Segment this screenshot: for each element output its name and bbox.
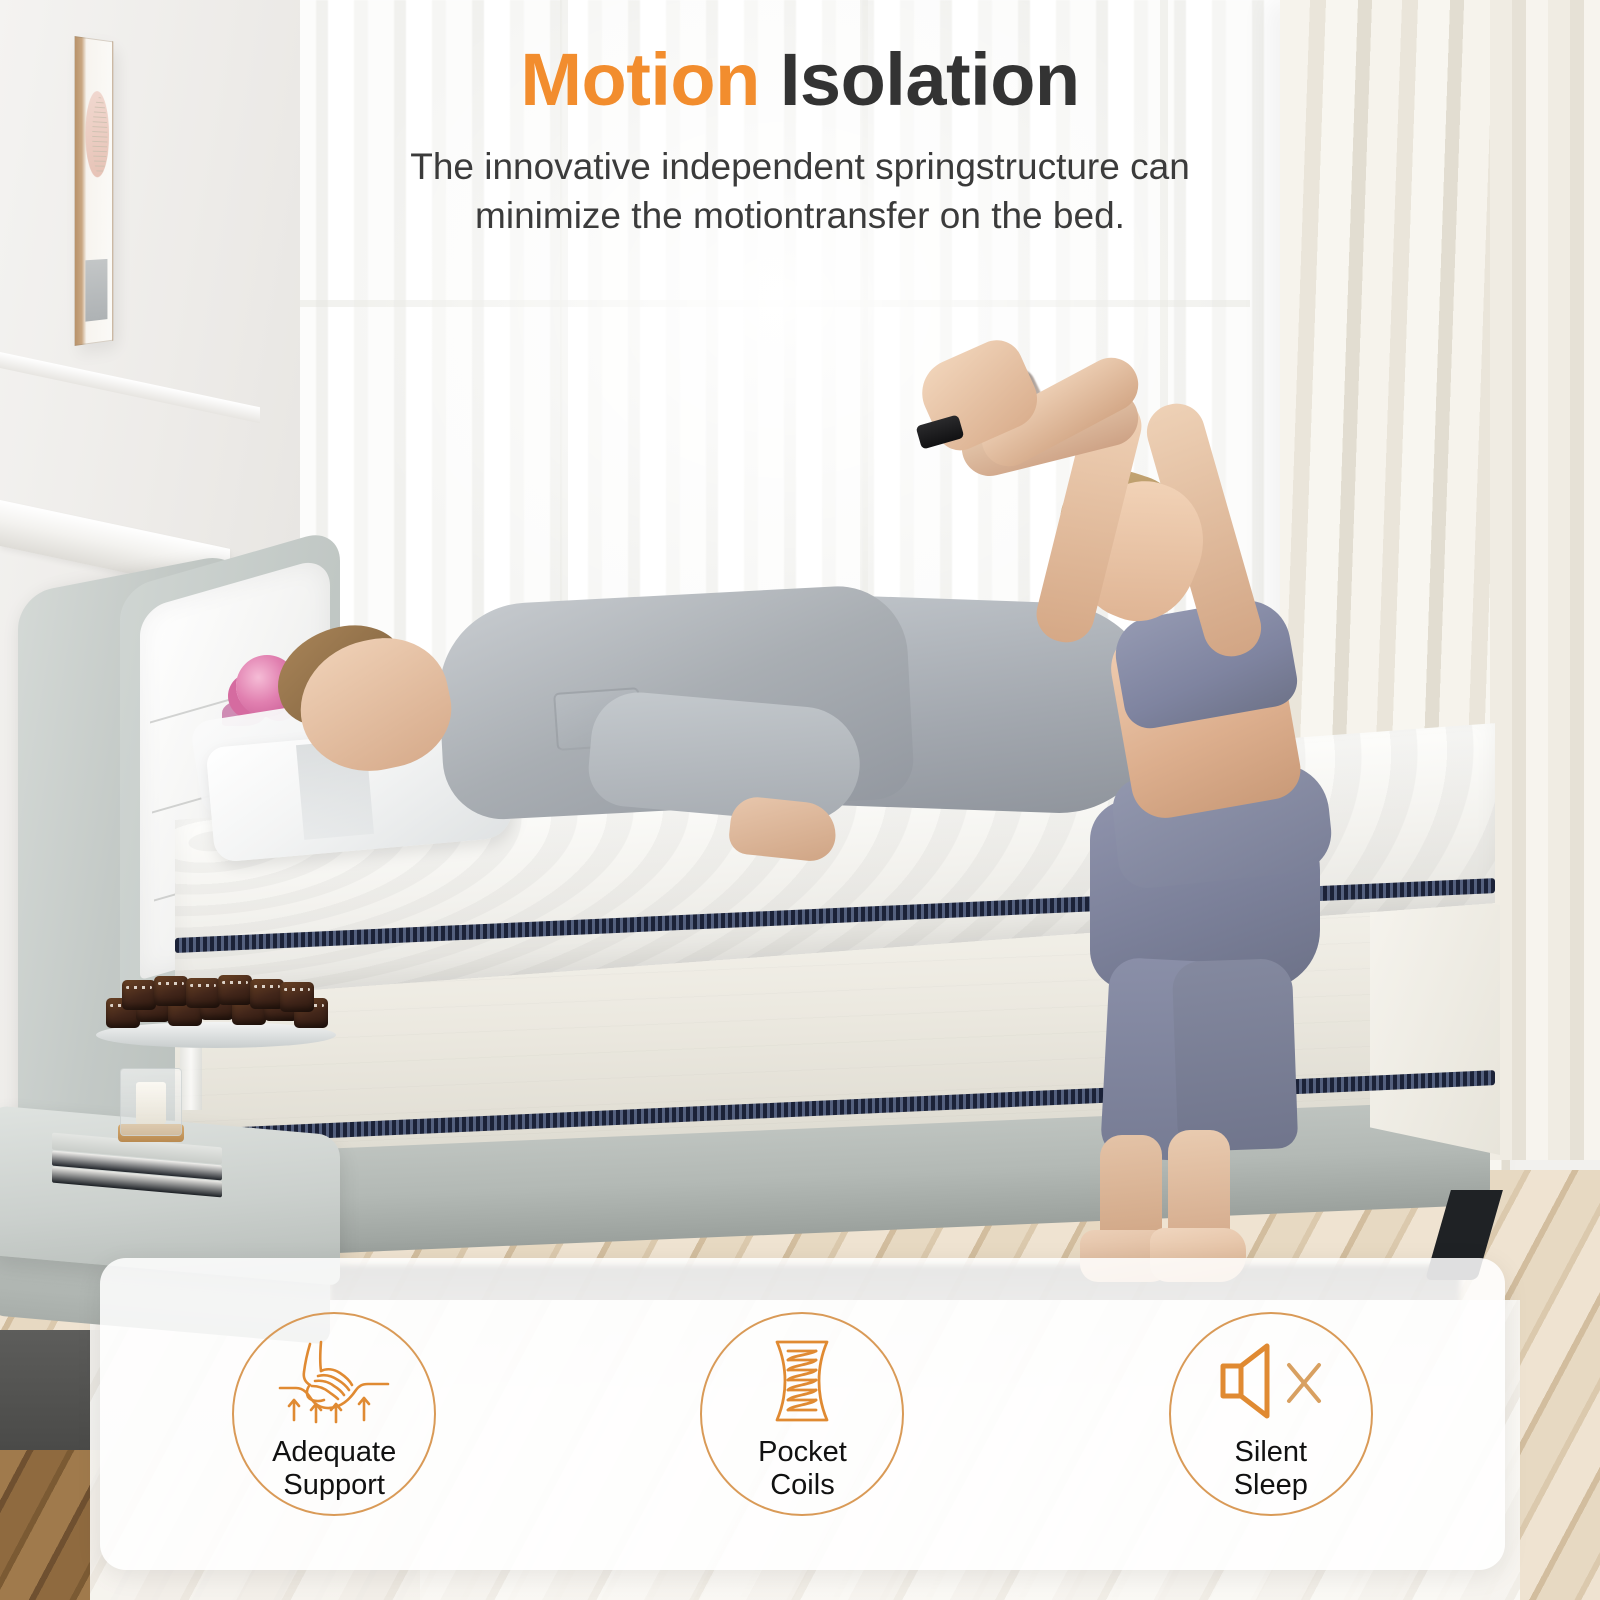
mattress-corner <box>1370 877 1500 1155</box>
cake-stand-stem <box>180 1040 202 1110</box>
chocolate <box>218 975 252 1005</box>
title-rest: Isolation <box>780 38 1080 121</box>
feature-label: Silent Sleep <box>1234 1436 1308 1502</box>
badge-circle: Silent Sleep <box>1169 1312 1373 1516</box>
candle-glass-holder <box>120 1068 182 1136</box>
page-subtitle: The innovative independent springstructu… <box>0 142 1600 241</box>
feature-label: Adequate Support <box>272 1436 396 1502</box>
title-highlight: Motion <box>520 38 759 121</box>
page-title: Motion Isolation <box>0 40 1600 120</box>
feature-pocket-coils: Pocket Coils <box>568 1258 1036 1570</box>
subtitle-line-1: The innovative independent springstructu… <box>0 142 1600 192</box>
product-marketing-image: Motion Isolation The innovative independ… <box>0 0 1600 1600</box>
badge-circle: Pocket Coils <box>700 1312 904 1516</box>
feature-silent-sleep: Silent Sleep <box>1037 1258 1505 1570</box>
subtitle-line-2: minimize the motiontransfer on the bed. <box>0 191 1600 241</box>
badge-circle: Adequate Support <box>232 1312 436 1516</box>
chocolate <box>122 980 156 1010</box>
feature-adequate-support: Adequate Support <box>100 1258 568 1570</box>
window-transom <box>300 300 1250 307</box>
chocolate <box>154 976 188 1006</box>
pocket-coil-spring-icon <box>763 1338 841 1424</box>
art-rectangle-shape <box>85 259 107 322</box>
woman-calf-right <box>1172 958 1299 1152</box>
hand-press-support-icon <box>274 1338 394 1424</box>
feature-label: Pocket Coils <box>758 1436 847 1502</box>
heading-block: Motion Isolation The innovative independ… <box>0 40 1600 241</box>
chocolate <box>250 979 284 1009</box>
muted-speaker-icon <box>1215 1338 1327 1424</box>
chocolate-dessert-tray <box>106 980 331 1032</box>
chocolate <box>280 982 314 1012</box>
feature-panel: Adequate Support <box>100 1258 1505 1570</box>
chocolate <box>186 978 220 1008</box>
